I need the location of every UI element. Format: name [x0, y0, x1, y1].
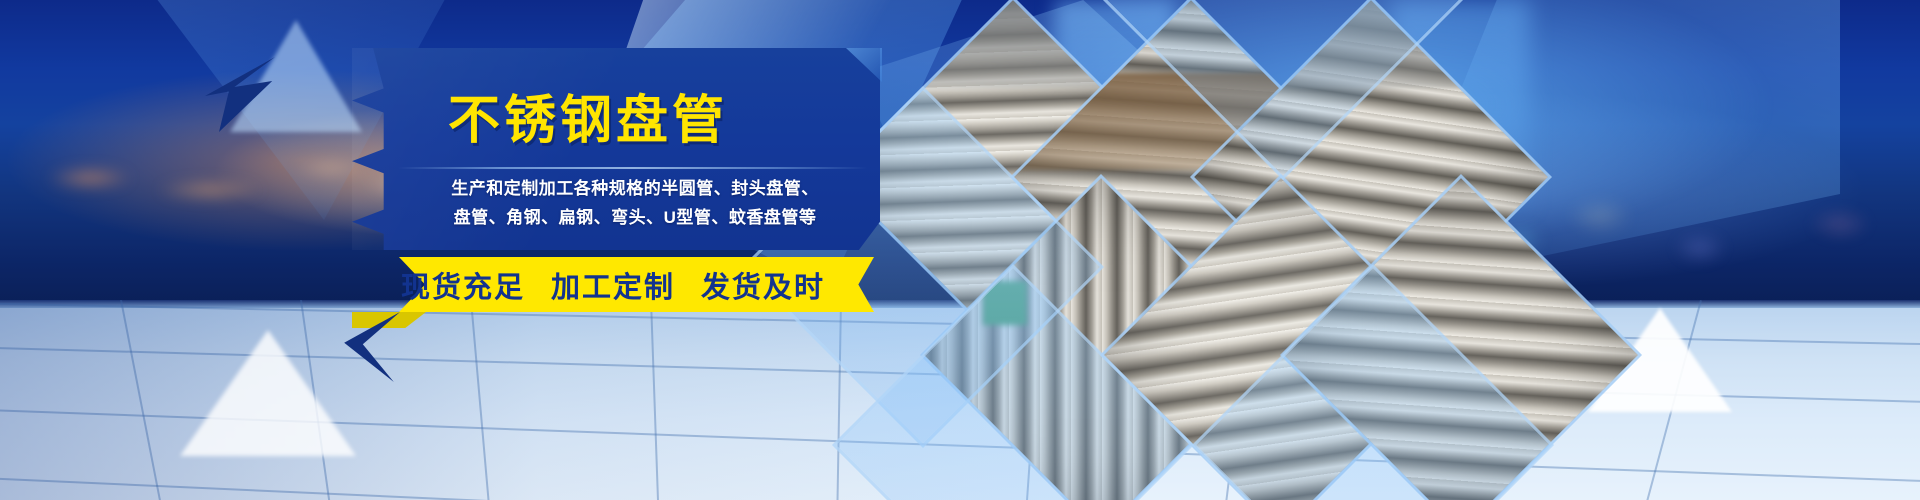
title-divider [398, 167, 868, 169]
ribbon-item-shipping: 发货及时 [701, 264, 825, 306]
ribbon-item-custom: 加工定制 [551, 264, 675, 306]
subtitle-line-2: 盘管、角钢、扁钢、弯头、U型管、蚊香盘管等 [398, 203, 872, 232]
ribbon-item-stock: 现货充足 [401, 264, 525, 306]
product-photo-collage [828, 0, 1488, 500]
page-title: 不锈钢盘管 [448, 94, 728, 149]
feature-ribbon-labels: 现货充足 加工定制 发货及时 [352, 257, 874, 312]
subtitle-line-1: 生产和定制加工各种规格的半圆管、封头盘管、 [398, 174, 872, 203]
subtitle: 生产和定制加工各种规格的半圆管、封头盘管、 盘管、角钢、扁钢、弯头、U型管、蚊香… [398, 174, 872, 232]
product-hero-banner: 不锈钢盘管 生产和定制加工各种规格的半圆管、封头盘管、 盘管、角钢、扁钢、弯头、… [0, 0, 1920, 500]
